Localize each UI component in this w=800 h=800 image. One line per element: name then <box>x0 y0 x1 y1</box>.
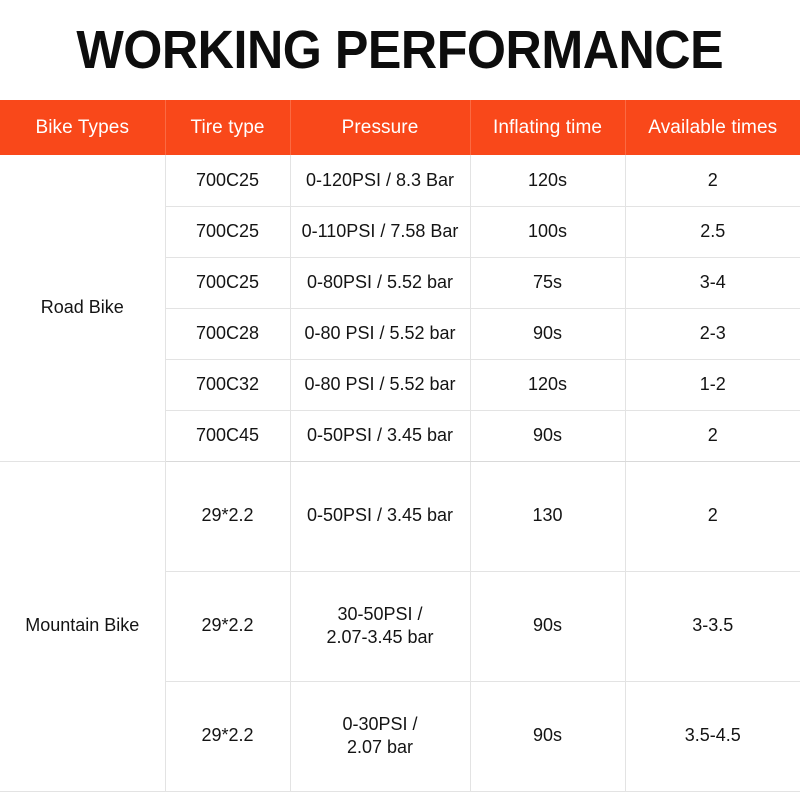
page-title: WORKING PERFORMANCE <box>77 23 724 77</box>
cell-inflating-time: 120s <box>470 359 625 410</box>
cell-tire-type: 700C25 <box>165 155 290 206</box>
cell-available-times: 2 <box>625 410 800 461</box>
cell-available-times: 2.5 <box>625 206 800 257</box>
cell-available-times: 3-3.5 <box>625 571 800 681</box>
cell-tire-type: 29*2.2 <box>165 571 290 681</box>
cell-inflating-time: 120s <box>470 155 625 206</box>
column-header-tire-type: Tire type <box>165 100 290 155</box>
performance-spec-sheet: WORKING PERFORMANCE Bike Types Tire type… <box>0 0 800 800</box>
cell-tire-type: 700C45 <box>165 410 290 461</box>
cell-available-times: 2 <box>625 155 800 206</box>
title-container: WORKING PERFORMANCE <box>0 0 800 100</box>
cell-available-times: 3-4 <box>625 257 800 308</box>
header-row: Bike Types Tire type Pressure Inflating … <box>0 100 800 155</box>
column-header-available-times: Available times <box>625 100 800 155</box>
cell-pressure: 30-50PSI / 2.07-3.45 bar <box>290 571 470 681</box>
pressure-line-1: 0-30PSI / <box>291 713 470 736</box>
table-row: Road Bike 700C25 0-120PSI / 8.3 Bar 120s… <box>0 155 800 206</box>
column-header-inflating-time: Inflating time <box>470 100 625 155</box>
cell-inflating-time: 75s <box>470 257 625 308</box>
cell-inflating-time: 90s <box>470 410 625 461</box>
table-row: Mountain Bike 29*2.2 0-50PSI / 3.45 bar … <box>0 461 800 571</box>
pressure-line-2: 2.07 bar <box>291 736 470 759</box>
cell-pressure: 0-30PSI / 2.07 bar <box>290 681 470 791</box>
cell-pressure: 0-120PSI / 8.3 Bar <box>290 155 470 206</box>
cell-pressure: 0-80 PSI / 5.52 bar <box>290 308 470 359</box>
pressure-line-1: 0-50PSI / 3.45 bar <box>291 504 470 527</box>
cell-pressure: 0-50PSI / 3.45 bar <box>290 461 470 571</box>
working-performance-table: Bike Types Tire type Pressure Inflating … <box>0 100 800 792</box>
cell-inflating-time: 90s <box>470 681 625 791</box>
pressure-line-1: 30-50PSI / <box>291 603 470 626</box>
table-body: Road Bike 700C25 0-120PSI / 8.3 Bar 120s… <box>0 155 800 791</box>
cell-tire-type: 700C25 <box>165 206 290 257</box>
cell-inflating-time: 90s <box>470 308 625 359</box>
cell-inflating-time: 130 <box>470 461 625 571</box>
cell-available-times: 1-2 <box>625 359 800 410</box>
group-label-road-bike: Road Bike <box>0 155 165 461</box>
cell-tire-type: 700C25 <box>165 257 290 308</box>
cell-pressure: 0-80 PSI / 5.52 bar <box>290 359 470 410</box>
cell-pressure: 0-80PSI / 5.52 bar <box>290 257 470 308</box>
cell-available-times: 2-3 <box>625 308 800 359</box>
table-header: Bike Types Tire type Pressure Inflating … <box>0 100 800 155</box>
cell-inflating-time: 90s <box>470 571 625 681</box>
cell-tire-type: 29*2.2 <box>165 461 290 571</box>
cell-pressure: 0-110PSI / 7.58 Bar <box>290 206 470 257</box>
group-label-mountain-bike: Mountain Bike <box>0 461 165 791</box>
cell-inflating-time: 100s <box>470 206 625 257</box>
cell-tire-type: 29*2.2 <box>165 681 290 791</box>
cell-available-times: 2 <box>625 461 800 571</box>
cell-tire-type: 700C32 <box>165 359 290 410</box>
pressure-line-2: 2.07-3.45 bar <box>291 626 470 649</box>
column-header-bike-types: Bike Types <box>0 100 165 155</box>
column-header-pressure: Pressure <box>290 100 470 155</box>
cell-tire-type: 700C28 <box>165 308 290 359</box>
cell-available-times: 3.5-4.5 <box>625 681 800 791</box>
cell-pressure: 0-50PSI / 3.45 bar <box>290 410 470 461</box>
